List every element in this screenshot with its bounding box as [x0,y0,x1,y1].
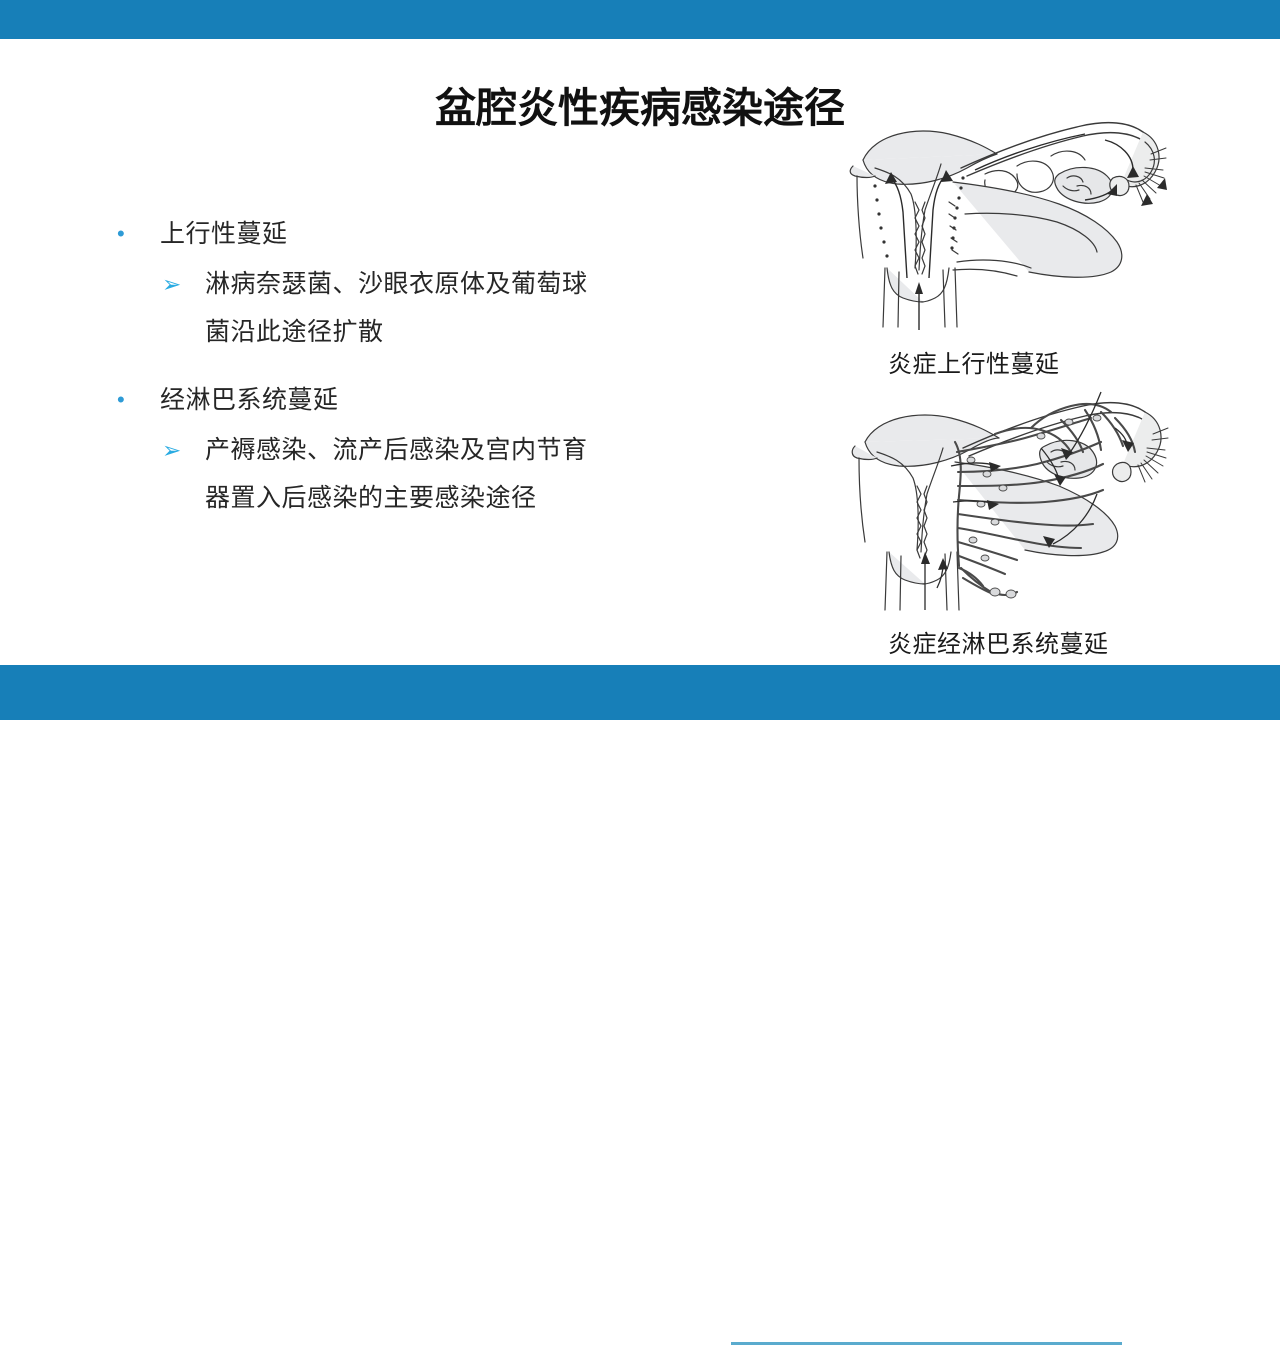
bullet-level1-item: • 经淋巴系统蔓延 [100,378,760,422]
bullet-level2-item: ➢ 淋病奈瑟菌、沙眼衣原体及葡萄球 菌沿此途径扩散 [100,260,760,356]
dot-bullet-icon: • [100,212,160,256]
lymphatic-spread-diagram [845,382,1175,617]
arrow-bullet-icon: ➢ [100,260,205,308]
bullet-level2-item: ➢ 产褥感染、流产后感染及宫内节育 器置入后感染的主要感染途径 [100,426,760,522]
figure-caption-lymphatic: 炎症经淋巴系统蔓延 [888,624,1109,659]
bottom-accent-band [0,665,1280,720]
ascending-infection-diagram [845,82,1175,337]
bullet-level2-line: 器置入后感染的主要感染途径 [205,474,588,522]
bullet-level1-label: 经淋巴系统蔓延 [160,378,339,422]
bullet-level2-line: 菌沿此途径扩散 [205,308,588,356]
figure-caption-ascending: 炎症上行性蔓延 [888,344,1060,379]
bullet-level1-item: • 上行性蔓延 [100,212,760,256]
bullet-content: • 上行性蔓延 ➢ 淋病奈瑟菌、沙眼衣原体及葡萄球 菌沿此途径扩散 • 经淋巴系… [100,212,760,524]
dot-bullet-icon: • [100,378,160,422]
top-accent-band [0,0,1280,39]
bullet-level2-label: 产褥感染、流产后感染及宫内节育 器置入后感染的主要感染途径 [205,426,588,522]
bullet-level2-line: 淋病奈瑟菌、沙眼衣原体及葡萄球 [205,260,588,308]
arrow-bullet-icon: ➢ [100,426,205,474]
group-spacer [100,358,760,378]
bullet-level2-label: 淋病奈瑟菌、沙眼衣原体及葡萄球 菌沿此途径扩散 [205,260,588,356]
bullet-level2-line: 产褥感染、流产后感染及宫内节育 [205,426,588,474]
bullet-level1-label: 上行性蔓延 [160,212,288,256]
